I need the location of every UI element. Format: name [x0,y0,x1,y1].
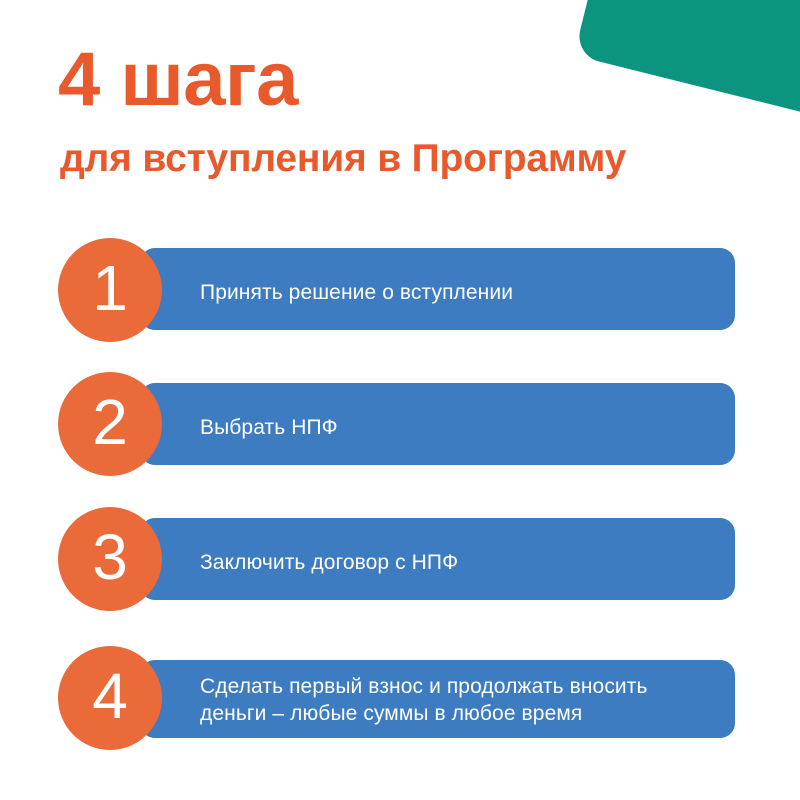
step-label-2: Выбрать НПФ [200,414,700,441]
step-number-badge-1: 1 [58,238,162,342]
step-number-badge-4: 4 [58,646,162,750]
step-label-line: Заключить договор с НПФ [200,549,700,576]
step-number-4: 4 [92,664,128,728]
steps-list: 1 Принять решение о вступлении 2 Выбрать… [0,0,800,800]
step-number-3: 3 [92,525,128,589]
step-number-2: 2 [92,390,128,454]
step-number-1: 1 [92,256,128,320]
step-label-3: Заключить договор с НПФ [200,549,700,576]
step-number-badge-3: 3 [58,507,162,611]
infographic-poster: 4 шага для вступления в Программу 1 Прин… [0,0,800,800]
step-label-1: Принять решение о вступлении [200,279,700,306]
step-label-line: Сделать первый взнос и продолжать вносит… [200,673,700,700]
step-label-4: Сделать первый взнос и продолжать вносит… [200,673,700,728]
step-number-badge-2: 2 [58,372,162,476]
step-label-line: Выбрать НПФ [200,414,700,441]
step-label-line: Принять решение о вступлении [200,279,700,306]
step-label-line: деньги – любые суммы в любое время [200,700,700,727]
